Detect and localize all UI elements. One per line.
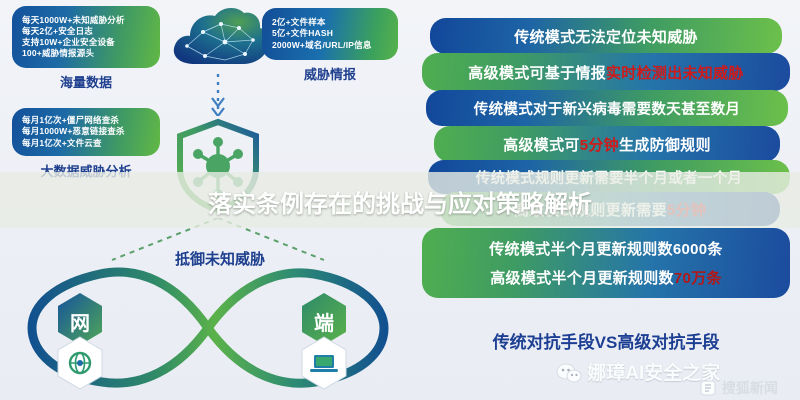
bigdata-line-1: 每月1亿次+僵尸网络查杀 xyxy=(22,115,150,126)
globe-network-icon xyxy=(56,336,104,395)
bigdata-analysis-card: 每月1亿次+僵尸网络查杀 每月1000W+恶意链接查杀 每月1亿次+文件云查 xyxy=(12,108,160,156)
threat-intel-card: 2亿+文件样本 5亿+文件HASH 2000W+域名/URL/IP信息 xyxy=(262,8,398,60)
bar-text: 传统模式无法定位未知威胁 xyxy=(514,26,698,47)
bar-text-highlight: 实时检测出未知威胁 xyxy=(606,62,744,83)
threat-intel-line-1: 2亿+文件样本 xyxy=(272,17,388,28)
massive-data-caption: 海量数据 xyxy=(12,72,160,91)
threat-intel-caption: 威胁情报 xyxy=(262,64,398,83)
laptop-icon xyxy=(300,336,348,395)
bigdata-line-3: 每月1亿次+文件云查 xyxy=(22,138,150,149)
page-headline: 落实条例存在的挑战与应对策略解析 xyxy=(0,184,800,219)
right-panel-footer-title: 传统对抗手段VS高级对抗手段 xyxy=(430,328,782,353)
bar-advanced-realtime-detect: 高级模式可基于情报实时检测出未知威胁 xyxy=(422,53,790,91)
massive-data-line-1: 每天1000W+未知威胁分析 xyxy=(22,15,150,26)
massive-data-line-4: 100+威胁情报源头 xyxy=(22,48,150,59)
bar-advanced-5min-rule: 高级模式可5分钟生成防御规则 xyxy=(434,126,780,162)
dashed-connector-top xyxy=(206,74,230,121)
sohu-logo-icon xyxy=(700,380,718,396)
wechat-icon xyxy=(556,363,582,383)
bar-text-highlight: 70万条 xyxy=(674,270,722,287)
secondary-watermark: 搜狐新闻 xyxy=(700,378,778,398)
massive-data-card: 每天1000W+未知威胁分析 每天2亿+安全日志 支持10W+企业安全设备 10… xyxy=(12,6,160,68)
bar-traditional-6000-rules: 传统模式半个月更新规则数6000条 xyxy=(489,238,722,259)
infographic-canvas: 每天1000W+未知威胁分析 每天2亿+安全日志 支持10W+企业安全设备 10… xyxy=(0,0,800,400)
massive-data-line-2: 每天2亿+安全日志 xyxy=(22,26,150,37)
cloud-network-icon xyxy=(165,2,273,83)
bar-text-prefix: 高级模式可 xyxy=(503,134,580,155)
bigdata-line-2: 每月1000W+恶意链接查杀 xyxy=(22,126,150,137)
massive-data-line-3: 支持10W+企业安全设备 xyxy=(22,37,150,48)
bar-traditional-unknown-threat: 传统模式无法定位未知威胁 xyxy=(430,18,782,54)
bar-advanced-700k-rules: 高级模式半个月更新规则数70万条 xyxy=(490,267,722,288)
threat-intel-line-2: 5亿+文件HASH xyxy=(272,28,388,39)
secondary-watermark-text: 搜狐新闻 xyxy=(722,380,778,396)
bar-text: 传统模式半个月更新规则数6000条 xyxy=(489,241,722,258)
bar-text: 传统模式对于新兴病毒需要数天甚至数月 xyxy=(474,98,740,119)
bar-rules-comparison-group: 传统模式半个月更新规则数6000条 高级模式半个月更新规则数70万条 xyxy=(422,228,790,298)
bar-traditional-new-virus: 传统模式对于新兴病毒需要数天甚至数月 xyxy=(426,90,788,126)
bar-text-suffix: 生成防御规则 xyxy=(619,134,711,155)
wechat-watermark: 娜璋AI安全之家 xyxy=(556,358,720,385)
bar-text-prefix: 高级模式可基于情报 xyxy=(468,62,606,83)
bar-text-prefix: 高级模式半个月更新规则数 xyxy=(490,270,674,287)
bar-text-highlight: 5分钟 xyxy=(580,134,619,155)
threat-intel-line-3: 2000W+域名/URL/IP信息 xyxy=(272,40,388,51)
